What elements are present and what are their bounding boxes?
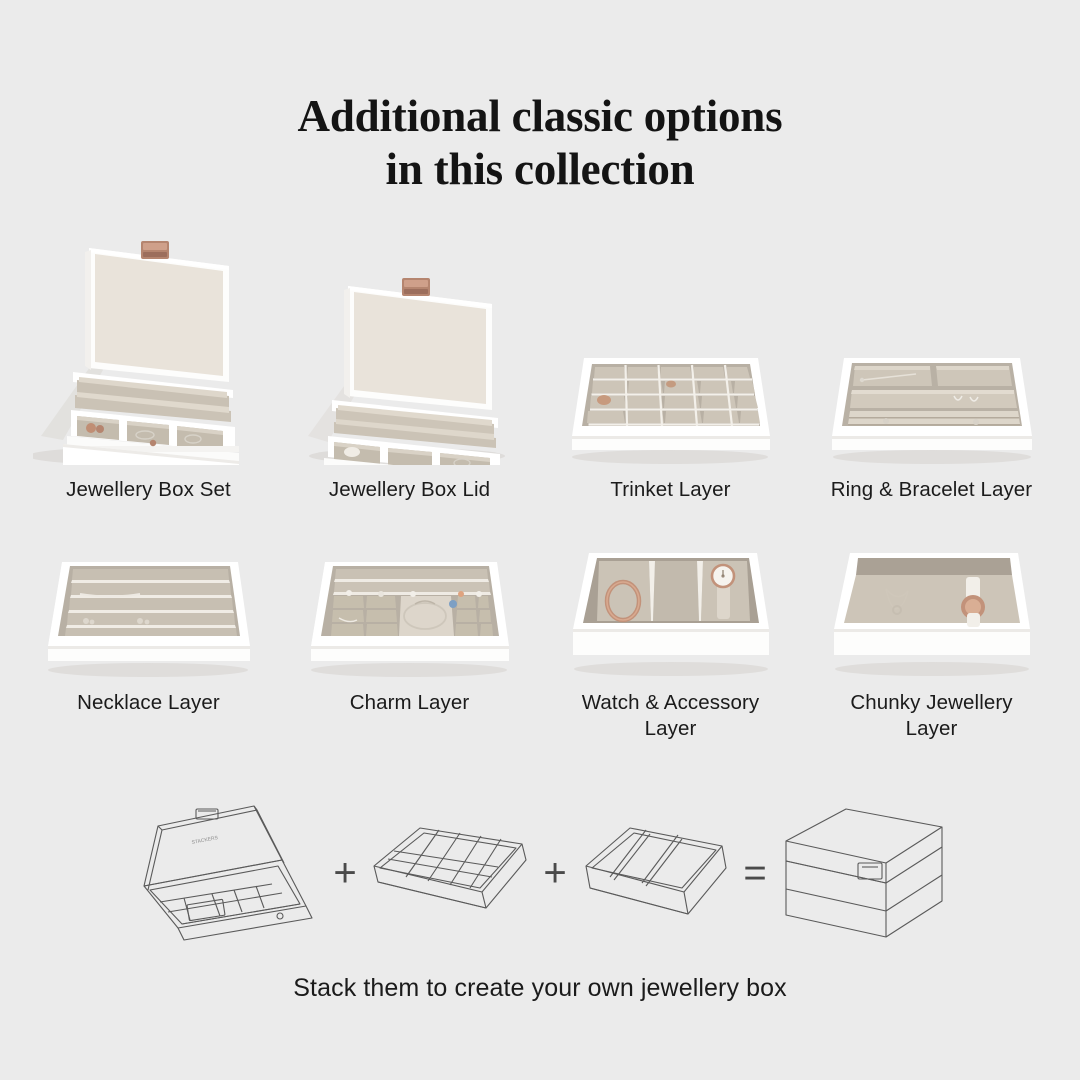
product-card-charm-layer[interactable]: Charm Layer bbox=[279, 528, 540, 742]
page-title-line-2: in this collection bbox=[0, 143, 1080, 196]
product-label-jewellery-box-lid: Jewellery Box Lid bbox=[329, 477, 490, 503]
product-label-necklace-layer: Necklace Layer bbox=[77, 690, 220, 716]
watch-accessory-layer-photo bbox=[565, 543, 777, 678]
product-label-watch-accessory-layer: Watch & Accessory Layer bbox=[582, 690, 760, 742]
product-card-jewellery-box-lid[interactable]: Jewellery Box Lid bbox=[279, 235, 540, 503]
chunky-jewellery-layer-stage bbox=[801, 528, 1062, 678]
product-label-charm-layer: Charm Layer bbox=[350, 690, 470, 716]
product-label-jewellery-box-set: Jewellery Box Set bbox=[66, 477, 231, 503]
product-card-watch-accessory-layer[interactable]: Watch & Accessory Layer bbox=[540, 528, 801, 742]
page-title-line-1: Additional classic options bbox=[0, 90, 1080, 143]
product-label-ring-bracelet-layer: Ring & Bracelet Layer bbox=[831, 477, 1033, 503]
jewellery-box-lid-stage bbox=[279, 235, 540, 465]
product-label-line-1: Chunky Jewellery bbox=[850, 691, 1012, 714]
stacking-diagram-caption: Stack them to create your own jewellery … bbox=[0, 974, 1080, 1003]
product-card-ring-bracelet-layer[interactable]: Ring & Bracelet Layer bbox=[801, 235, 1062, 503]
ring-bracelet-layer-stage bbox=[801, 235, 1062, 465]
product-label-line-2: Layer bbox=[645, 717, 697, 740]
product-grid-row-1: Jewellery Box Set bbox=[0, 235, 1080, 503]
necklace-layer-stage bbox=[18, 528, 279, 678]
stacked-box-lineart bbox=[780, 805, 950, 940]
operator-plus-2: + bbox=[534, 853, 576, 893]
ring-bracelet-layer-photo bbox=[826, 340, 1038, 465]
product-label-trinket-layer: Trinket Layer bbox=[610, 477, 730, 503]
product-label-line-2: Layer bbox=[906, 717, 958, 740]
operator-plus-1: + bbox=[324, 853, 366, 893]
trinket-layer-photo bbox=[566, 340, 776, 465]
page-title: Additional classic options in this colle… bbox=[0, 0, 1080, 195]
chunky-jewellery-layer-photo bbox=[826, 543, 1038, 678]
jewellery-box-lid-photo bbox=[302, 260, 517, 465]
product-grid-row-2: Necklace Layer bbox=[0, 528, 1080, 742]
charm-layer-photo bbox=[303, 548, 517, 678]
watch-accessory-layer-lineart bbox=[580, 818, 730, 928]
jewellery-box-set-photo bbox=[33, 240, 265, 465]
product-label-chunky-jewellery-layer: Chunky Jewellery Layer bbox=[850, 690, 1012, 742]
product-label-line-1: Watch & Accessory bbox=[582, 691, 760, 714]
lineart-brand-text: STACKERS bbox=[191, 835, 219, 846]
charm-layer-stage bbox=[279, 528, 540, 678]
trinket-layer-stage bbox=[540, 235, 801, 465]
watch-accessory-layer-stage bbox=[540, 528, 801, 678]
jewellery-box-lid-lineart: STACKERS bbox=[130, 798, 320, 948]
product-card-jewellery-box-set[interactable]: Jewellery Box Set bbox=[18, 235, 279, 503]
necklace-layer-photo bbox=[40, 548, 258, 678]
jewellery-box-set-stage bbox=[18, 235, 279, 465]
trinket-layer-lineart bbox=[370, 818, 530, 928]
stacking-diagram: STACKERS + + = bbox=[0, 788, 1080, 958]
product-card-trinket-layer[interactable]: Trinket Layer bbox=[540, 235, 801, 503]
operator-equals: = bbox=[734, 853, 776, 893]
product-card-chunky-jewellery-layer[interactable]: Chunky Jewellery Layer bbox=[801, 528, 1062, 742]
product-card-necklace-layer[interactable]: Necklace Layer bbox=[18, 528, 279, 742]
